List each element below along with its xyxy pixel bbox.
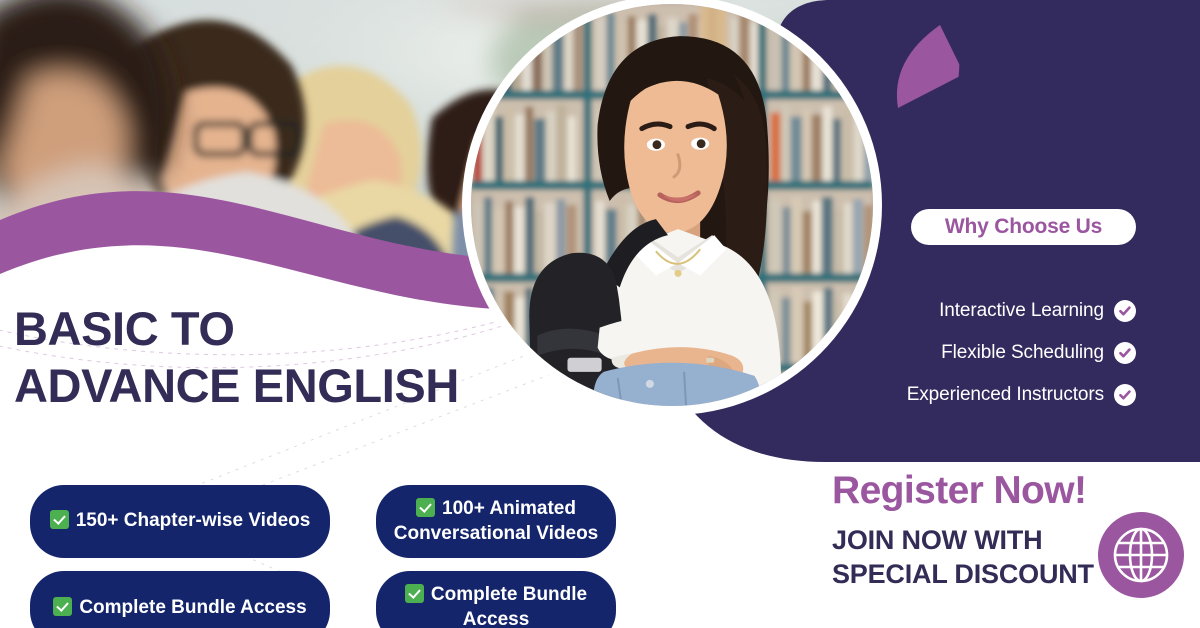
promo-banner: BASIC TO ADVANCE ENGLISH Why Choose Us I… xyxy=(0,0,1200,628)
check-circle-icon xyxy=(1114,384,1136,406)
feature-pill-bundle-access-left[interactable]: Complete Bundle Access xyxy=(30,571,330,628)
why-choose-us-label: Why Choose Us xyxy=(945,215,1102,239)
feature-pill-label: Complete Bundle Access xyxy=(79,597,306,618)
register-block: Register Now! JOIN NOW WITH SPECIAL DISC… xyxy=(832,470,1094,592)
check-circle-icon xyxy=(1114,300,1136,322)
check-square-icon xyxy=(405,584,424,603)
student-in-library-photo xyxy=(462,0,882,415)
feature-pill-chapter-videos[interactable]: 150+ Chapter-wise Videos xyxy=(30,485,330,558)
feature-pill-label: Complete Bundle Access xyxy=(431,584,587,628)
page-title: BASIC TO ADVANCE ENGLISH xyxy=(14,300,459,415)
benefit-item-experienced-instructors: Experienced Instructors xyxy=(907,384,1136,406)
benefit-label: Interactive Learning xyxy=(939,300,1104,322)
benefit-label: Experienced Instructors xyxy=(907,384,1104,406)
why-choose-us-badge: Why Choose Us xyxy=(911,209,1136,245)
register-subtitle: JOIN NOW WITH SPECIAL DISCOUNT xyxy=(832,523,1094,592)
check-square-icon xyxy=(53,597,72,616)
check-circle-icon xyxy=(1114,342,1136,364)
feature-pills: 150+ Chapter-wise Videos 100+ Animated C… xyxy=(30,485,630,628)
benefits-list: Interactive Learning Flexible Scheduling… xyxy=(907,300,1136,406)
globe-icon xyxy=(1098,512,1184,598)
feature-pill-label: 150+ Chapter-wise Videos xyxy=(76,510,311,531)
register-title: Register Now! xyxy=(832,470,1094,513)
benefit-label: Flexible Scheduling xyxy=(941,342,1104,364)
benefit-item-interactive-learning: Interactive Learning xyxy=(939,300,1136,322)
feature-pill-bundle-access-right[interactable]: Complete Bundle Access xyxy=(376,571,616,628)
benefit-item-flexible-scheduling: Flexible Scheduling xyxy=(941,342,1136,364)
sailboat-triangle-logo xyxy=(868,12,1043,162)
feature-pill-animated-videos[interactable]: 100+ Animated Conversational Videos xyxy=(376,485,616,558)
check-square-icon xyxy=(416,498,435,517)
check-square-icon xyxy=(50,510,69,529)
